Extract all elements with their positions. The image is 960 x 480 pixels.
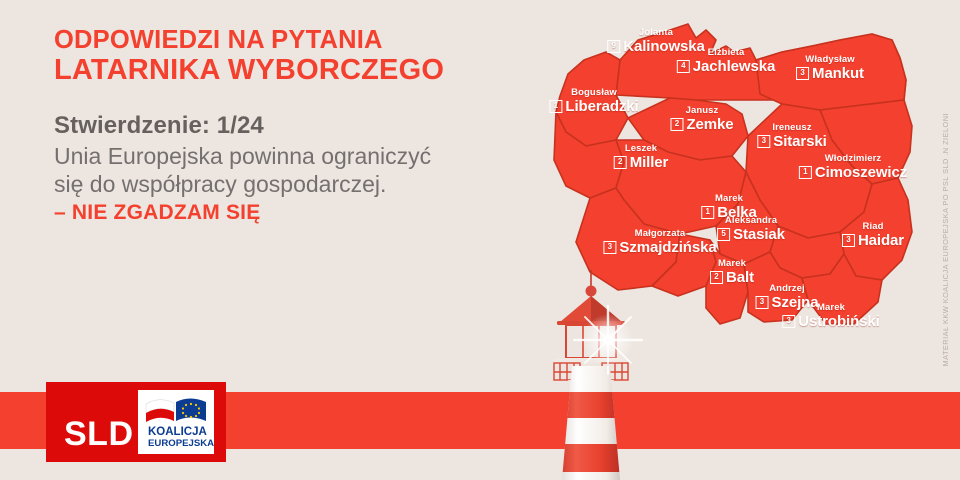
attribution-sidebar: MATERIAŁ KKW KOALICJA EUROPEJSKA PO PSL …	[934, 0, 956, 480]
coalition-line-2: EUROPEJSKA	[148, 438, 214, 449]
headline: ODPOWIEDZI NA PYTANIA LATARNIKA WYBORCZE…	[54, 26, 484, 87]
copy-block: ODPOWIEDZI NA PYTANIA LATARNIKA WYBORCZE…	[54, 26, 484, 225]
statement-body: Unia Europejska powinna ograniczyć się d…	[54, 142, 484, 199]
answer-text: – NIE ZGADZAM SIĘ	[54, 201, 484, 225]
koalicja-europejska-logo: KOALICJA EUROPEJSKA	[138, 390, 214, 454]
statement-body-line-1: Unia Europejska powinna ograniczyć	[54, 142, 484, 170]
headline-line-2: LATARNIKA WYBORCZEGO	[54, 54, 484, 87]
logo-block: SLD KOALICJA EUROPEJSKA	[46, 382, 226, 462]
poster-canvas: ODPOWIEDZI NA PYTANIA LATARNIKA WYBORCZE…	[0, 0, 960, 480]
headline-line-1: ODPOWIEDZI NA PYTANIA	[54, 26, 383, 54]
lighthouse-illustration	[516, 266, 666, 480]
attribution-text: MATERIAŁ KKW KOALICJA EUROPEJSKA PO PSL …	[941, 113, 950, 366]
statement-body-line-2: się do współpracy gospodarczej.	[54, 170, 484, 198]
coalition-line-1: KOALICJA	[148, 426, 207, 438]
sld-logo-text: SLD	[64, 415, 134, 454]
statement-label: Stwierdzenie: 1/24	[54, 112, 484, 140]
